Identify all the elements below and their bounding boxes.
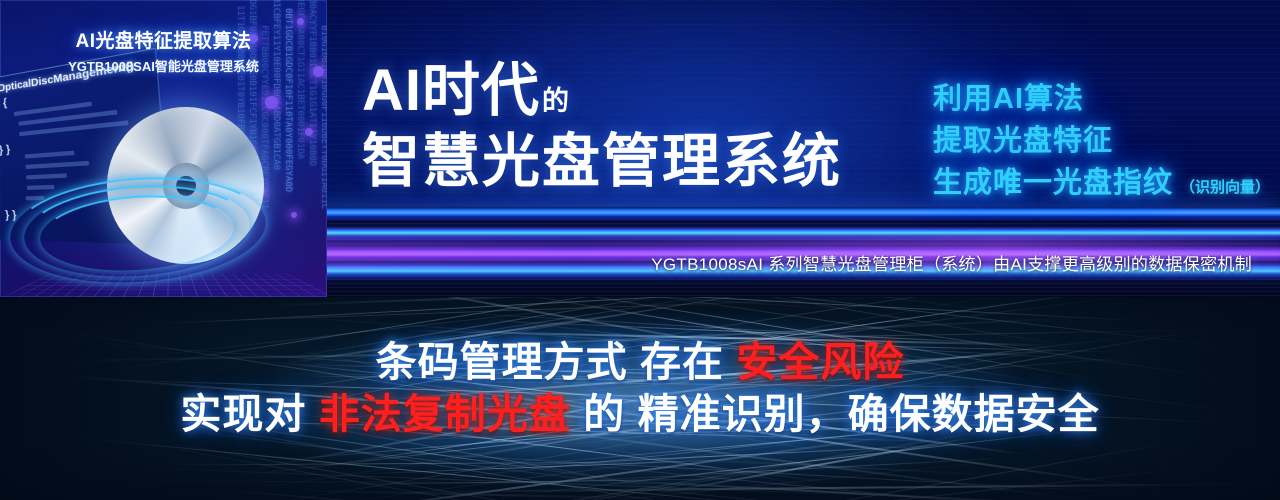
feature-bullet-list: 利用AI算法 提取光盘特征 生成唯一光盘指纹（识别向量） [933, 78, 1270, 209]
subtitle-strip: YGTB1008sAI 系列智慧光盘管理柜（系统）由AI支撑更高级别的数据保密机… [0, 248, 1280, 276]
bottom-line2-seg-3: 的 精准识别，确保数据安全 [571, 391, 1100, 437]
main-headline: AI时代的 智慧光盘管理系统 [362, 62, 842, 191]
bottom-line2-seg-2: 非法复制光盘 [319, 391, 571, 437]
glow-dot [297, 18, 304, 25]
headline-line-1: AI时代的 [362, 62, 842, 120]
headline-line-1-suffix: 的 [542, 86, 570, 116]
feature-bullet-2-text: 提取光盘特征 [933, 125, 1113, 157]
headline-line-2: 智慧光盘管理系统 [362, 133, 842, 191]
headline-line-1-main: AI时代 [362, 58, 540, 123]
inset-title: AI光盘特征提取算法 [0, 26, 327, 53]
code-brace-icon: } } [5, 209, 17, 221]
glow-dot [265, 96, 278, 109]
product-banner: 11T1G011BB10E01T0YB10FB01YA0BBGGGBATECYD… [0, 0, 1280, 500]
bottom-line1-seg-1: 条码管理方式 存在 [376, 339, 737, 385]
feature-bullet-3-text: 生成唯一光盘指纹 [933, 167, 1173, 199]
feature-bullet-1-text: 利用AI算法 [933, 83, 1084, 115]
bottom-copy-line-2: 实现对 非法复制光盘 的 精准识别，确保数据安全 [0, 388, 1280, 440]
bottom-line1-seg-2: 安全风险 [736, 339, 904, 385]
bottom-copy: 条码管理方式 存在 安全风险 实现对 非法复制光盘 的 精准识别，确保数据安全 [0, 336, 1280, 440]
feature-bullet-2: 提取光盘特征 [933, 120, 1270, 162]
code-brace-icon: } } [0, 143, 11, 156]
glow-dot [291, 212, 297, 218]
code-brace-icon: } { [0, 97, 7, 111]
bottom-copy-line-1: 条码管理方式 存在 安全风险 [0, 336, 1280, 388]
glow-dot [305, 128, 313, 136]
top-hero-section: 11T1G011BB10E01T0YB10FB01YA0BBGGGBATECYD… [0, 0, 1280, 297]
feature-bullet-3: 生成唯一光盘指纹（识别向量） [933, 162, 1270, 209]
bottom-line2-seg-1: 实现对 [180, 391, 318, 437]
feature-bullet-1: 利用AI算法 [933, 78, 1270, 120]
inset-subtitle: YGTB1008SAI智能光盘管理系统 [0, 56, 327, 75]
subtitle-text: YGTB1008sAI 系列智慧光盘管理柜（系统）由AI支撑更高级别的数据保密机… [651, 250, 1252, 275]
feature-bullet-3-note: （识别向量） [1180, 179, 1270, 196]
